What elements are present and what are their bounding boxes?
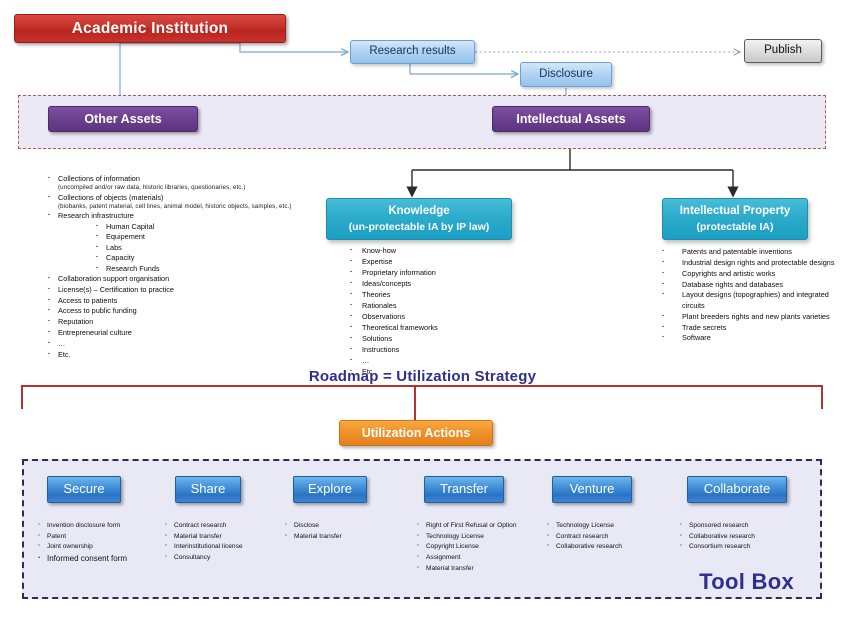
other-assets-item: Entrepreneurial culture bbox=[46, 328, 296, 338]
research-infrastructure-item: Equipement bbox=[94, 232, 296, 242]
toolbox-item-list: Invention disclosure formPatentJoint own… bbox=[36, 521, 166, 566]
other-assets-item: … bbox=[46, 339, 296, 349]
knowledge-box[interactable]: Knowledge (un-protectable IA by IP law) bbox=[326, 198, 512, 240]
other-assets-item: License(s) – Certification to practice bbox=[46, 285, 296, 295]
publish-box[interactable]: Publish bbox=[744, 39, 822, 63]
other-assets-item: Collections of information(uncompiled an… bbox=[46, 174, 296, 192]
toolbox-item: Joint ownership bbox=[36, 542, 166, 552]
toolbox-column-secure: Invention disclosure formPatentJoint own… bbox=[36, 521, 166, 566]
other-assets-item: Etc. bbox=[46, 350, 296, 360]
academic-institution-box[interactable]: Academic Institution bbox=[14, 14, 286, 43]
intellectual-property-item: Patents and patentable inventions bbox=[660, 247, 835, 257]
action-button-explore[interactable]: Explore bbox=[293, 476, 367, 503]
other-assets-item: Research infrastructure bbox=[46, 211, 296, 221]
toolbox-item: Material transfer bbox=[283, 532, 413, 542]
knowledge-item: Proprietary information bbox=[348, 268, 530, 279]
research-infrastructure-item: Research Funds bbox=[94, 264, 296, 274]
toolbox-column-transfer: Right of First Refusal or OptionTechnolo… bbox=[415, 521, 545, 575]
knowledge-item: Theories bbox=[348, 290, 530, 301]
knowledge-list: Know-howExpertiseProprietary information… bbox=[340, 246, 530, 378]
research-infrastructure-item: Capacity bbox=[94, 253, 296, 263]
research-infrastructure-item: Human Capital bbox=[94, 222, 296, 232]
intellectual-property-item: Database rights and databases bbox=[660, 280, 835, 290]
toolbox-column-explore: DiscloseMaterial transfer bbox=[283, 521, 413, 542]
action-button-collaborate[interactable]: Collaborate bbox=[687, 476, 787, 503]
action-button-secure[interactable]: Secure bbox=[47, 476, 121, 503]
other-assets-item: Access to patients bbox=[46, 296, 296, 306]
knowledge-item: Rationales bbox=[348, 301, 530, 312]
roadmap-label: Roadmap = Utilization Strategy bbox=[0, 368, 845, 385]
toolbox-item: Invention disclosure form bbox=[36, 521, 166, 531]
research-results-box[interactable]: Research results bbox=[350, 40, 475, 64]
intellectual-assets-box[interactable]: Intellectual Assets bbox=[492, 106, 650, 132]
toolbox-item-list: Right of First Refusal or OptionTechnolo… bbox=[415, 521, 545, 574]
toolbox-column-share: Contract researchMaterial transferInteri… bbox=[163, 521, 293, 564]
toolbox-item: Disclose bbox=[283, 521, 413, 531]
intellectual-property-item: Industrial design rights and protectable… bbox=[660, 258, 835, 268]
toolbox-item: Copyright License bbox=[415, 542, 545, 552]
toolbox-item: Informed consent form bbox=[36, 553, 166, 565]
knowledge-item: Instructions bbox=[348, 345, 530, 356]
knowledge-item: Observations bbox=[348, 312, 530, 323]
other-assets-item-note: (biobanks, patent material, cell lines, … bbox=[58, 203, 296, 211]
intellectual-property-item: Copyrights and artistic works bbox=[660, 269, 835, 279]
other-assets-item: Reputation bbox=[46, 317, 296, 327]
other-assets-box[interactable]: Other Assets bbox=[48, 106, 198, 132]
research-infrastructure-item: Labs bbox=[94, 243, 296, 253]
toolbox-item: Technology License bbox=[415, 532, 545, 542]
knowledge-item: Expertise bbox=[348, 257, 530, 268]
toolbox-item: Assignment bbox=[415, 553, 545, 563]
other-assets-item-note: (uncompiled and/or raw data, historic li… bbox=[58, 184, 296, 192]
toolbox-item: Material transfer bbox=[163, 532, 293, 542]
toolbox-column-venture: Technology LicenseContract researchColla… bbox=[545, 521, 675, 553]
toolbox-item: Interinstitutional license bbox=[163, 542, 293, 552]
toolbox-label: Tool Box bbox=[699, 569, 794, 595]
knowledge-item: Solutions bbox=[348, 334, 530, 345]
other-assets-item: Collaboration support organisation bbox=[46, 274, 296, 284]
toolbox-column-collaborate: Sponsored researchCollaborative research… bbox=[678, 521, 808, 553]
knowledge-item: Theoretical frameworks bbox=[348, 323, 530, 334]
toolbox-item: Technology License bbox=[545, 521, 675, 531]
toolbox-item-list: DiscloseMaterial transfer bbox=[283, 521, 413, 542]
toolbox-item: Contract research bbox=[545, 532, 675, 542]
knowledge-subtitle: (un-protectable IA by IP law) bbox=[349, 221, 490, 233]
toolbox-item: Contract research bbox=[163, 521, 293, 531]
toolbox-item: Collaborative research bbox=[678, 532, 808, 542]
other-assets-item: Collections of objects (materials)(bioba… bbox=[46, 193, 296, 211]
intellectual-property-title: Intellectual Property bbox=[680, 205, 791, 218]
action-button-share[interactable]: Share bbox=[175, 476, 241, 503]
action-button-venture[interactable]: Venture bbox=[552, 476, 632, 503]
other-assets-item: Access to public funding bbox=[46, 306, 296, 316]
other-assets-list: Collections of information(uncompiled an… bbox=[46, 174, 296, 361]
toolbox-item: Sponsored research bbox=[678, 521, 808, 531]
diagram-canvas: Academic Institution Research results Di… bbox=[0, 0, 845, 634]
toolbox-item: Right of First Refusal or Option bbox=[415, 521, 545, 531]
toolbox-item: Patent bbox=[36, 532, 166, 542]
intellectual-property-item: Plant breeders rights and new plants var… bbox=[660, 312, 835, 322]
research-infrastructure-sublist: Human CapitalEquipementLabsCapacityResea… bbox=[46, 222, 296, 274]
utilization-actions-box[interactable]: Utilization Actions bbox=[339, 420, 493, 446]
disclosure-box[interactable]: Disclosure bbox=[520, 62, 612, 87]
intellectual-property-item: Software bbox=[660, 333, 835, 343]
action-button-transfer[interactable]: Transfer bbox=[424, 476, 504, 503]
intellectual-property-list: Patents and patentable inventionsIndustr… bbox=[660, 247, 835, 344]
knowledge-item: Ideas/concepts bbox=[348, 279, 530, 290]
toolbox-item-list: Contract researchMaterial transferInteri… bbox=[163, 521, 293, 563]
intellectual-property-item: Trade secrets bbox=[660, 323, 835, 333]
intellectual-property-item: Layout designs (topographies) and integr… bbox=[660, 290, 835, 311]
toolbox-item: Collaborative research bbox=[545, 542, 675, 552]
toolbox-item: Material transfer bbox=[415, 564, 545, 574]
toolbox-item-list: Technology LicenseContract researchColla… bbox=[545, 521, 675, 553]
toolbox-item: Consortium research bbox=[678, 542, 808, 552]
knowledge-item: … bbox=[348, 356, 530, 367]
toolbox-item-list: Sponsored researchCollaborative research… bbox=[678, 521, 808, 553]
knowledge-item: Know-how bbox=[348, 246, 530, 257]
knowledge-title: Knowledge bbox=[388, 205, 449, 218]
intellectual-property-box[interactable]: Intellectual Property (protectable IA) bbox=[662, 198, 808, 240]
toolbox-item: Consultancy bbox=[163, 553, 293, 563]
intellectual-property-subtitle: (protectable IA) bbox=[696, 221, 773, 233]
